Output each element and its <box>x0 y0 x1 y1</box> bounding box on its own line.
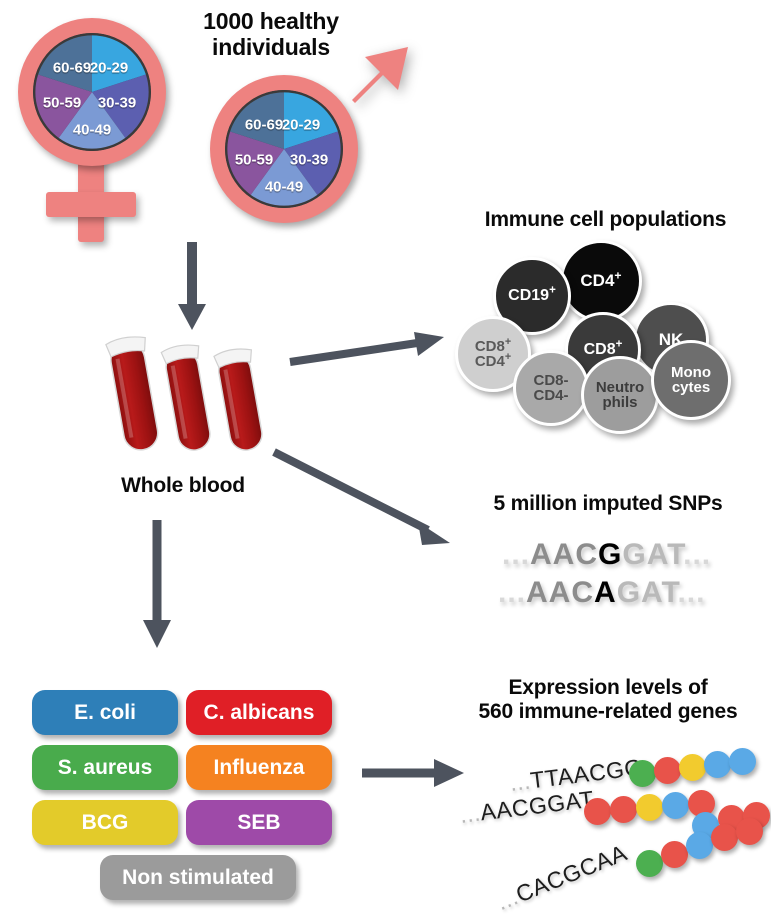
stimulus-box-e-coli[interactable]: E. coli <box>32 690 178 735</box>
snps-heading: 5 million imputed SNPs <box>458 492 758 516</box>
snp-allele-row-2: ...AACAGAT... <box>498 576 705 610</box>
blood-tube-3 <box>213 346 268 453</box>
strand-3-bead-4 <box>711 824 738 851</box>
whole-blood-label: Whole blood <box>78 474 288 498</box>
expression-strand-3-sequence: ...CACGCAA <box>493 839 631 916</box>
immune-cell-cd8-cd4-double-negative[interactable]: CD8- CD4- <box>513 350 589 426</box>
strand-2-bead-2 <box>610 796 637 823</box>
strand-3-bead-1 <box>636 850 663 877</box>
expression-strands: ...TTAACGG ...AACGGAT ...CACGCAA <box>440 740 771 920</box>
mono-line1: Mono <box>671 365 711 380</box>
expression-heading-line2: 560 immune-related genes <box>448 700 768 724</box>
female-symbol-cross <box>46 192 136 217</box>
snp-row1-prefix: ... <box>502 538 530 571</box>
snp-row1-highlight: G <box>598 538 622 571</box>
arrow-down-cohort-to-blood <box>172 242 212 332</box>
male-gender-symbol: 20-29 30-39 40-49 50-59 60-69 <box>200 48 415 248</box>
strand-1-bead-3 <box>679 754 706 781</box>
figure-canvas: 1000 healthy individuals 20-29 30-39 <box>0 0 771 922</box>
strand-2-bead-1 <box>584 798 611 825</box>
male-label-20-29: 20-29 <box>282 117 320 134</box>
arrow-right-blood-to-immune-cells <box>288 330 448 370</box>
strand-2-seq: AACGGAT <box>479 786 596 826</box>
stimulus-box-non-stimulated[interactable]: Non stimulated <box>100 855 296 900</box>
snp-row2-left: AAC <box>526 576 594 609</box>
strand-1-bead-5 <box>729 748 756 775</box>
arrow-diagonal-blood-to-snps <box>272 450 462 555</box>
immune-cell-cd4-label: CD4+ <box>580 272 621 289</box>
snp-allele-row-1: ...AACGGAT... <box>502 538 711 572</box>
stimulus-label-c-albicans: C. albicans <box>204 701 315 725</box>
stimulus-label-influenza: Influenza <box>213 756 304 780</box>
dp-line2: CD4+ <box>475 354 511 369</box>
strand-1-bead-4 <box>704 751 731 778</box>
snp-row2-prefix: ... <box>498 576 526 609</box>
blood-tubes-svg <box>95 335 275 465</box>
immune-cell-cd19-label: CD19+ <box>508 288 556 304</box>
snp-row2-highlight: A <box>594 576 617 609</box>
female-gender-symbol: 20-29 30-39 40-49 50-59 60-69 <box>8 14 198 244</box>
expression-heading-line1: Expression levels of <box>448 676 768 700</box>
stimulus-label-e-coli: E. coli <box>74 701 136 725</box>
stimulus-label-non-stimulated: Non stimulated <box>122 866 274 890</box>
male-label-40-49: 40-49 <box>265 179 303 196</box>
stimulus-box-seb[interactable]: SEB <box>186 800 332 845</box>
male-age-pie-chart: 20-29 30-39 40-49 50-59 60-69 <box>225 90 343 208</box>
snp-row2-right: GAT <box>617 576 678 609</box>
stimulus-box-c-albicans[interactable]: C. albicans <box>186 690 332 735</box>
whole-blood-tubes <box>95 335 275 465</box>
strand-1-bead-1 <box>629 760 656 787</box>
stimulus-label-seb: SEB <box>237 811 280 835</box>
immune-cell-monocytes[interactable]: Mono cytes <box>651 340 731 420</box>
strand-3-bead-5 <box>736 818 763 845</box>
male-label-30-39: 30-39 <box>290 152 328 169</box>
stimulus-box-bcg[interactable]: BCG <box>32 800 178 845</box>
female-label-60-69: 60-69 <box>53 60 91 77</box>
strand-3-seq: CACGCAA <box>512 839 630 907</box>
female-label-40-49: 40-49 <box>73 122 111 139</box>
male-label-60-69: 60-69 <box>245 117 283 134</box>
blood-tube-1 <box>105 335 164 453</box>
strand-3-bead-3 <box>686 832 713 859</box>
immune-cell-cluster: CD4+ CD19+ NK CD8+ CD8+ CD4+ CD8- CD4- N… <box>455 240 765 425</box>
dn-line2: CD4- <box>533 388 568 403</box>
female-label-20-29: 20-29 <box>90 60 128 77</box>
dn-line1: CD8- <box>533 373 568 388</box>
neutro-line1: Neutro <box>596 380 644 395</box>
immune-cell-cd4[interactable]: CD4+ <box>560 240 642 322</box>
mono-line2: cytes <box>672 380 710 395</box>
expression-heading: Expression levels of 560 immune-related … <box>448 676 768 724</box>
snp-row2-suffix: ... <box>677 576 705 609</box>
male-label-50-59: 50-59 <box>235 152 273 169</box>
immune-cell-neutrophils[interactable]: Neutro phils <box>581 356 659 434</box>
strand-1-bead-2 <box>654 757 681 784</box>
snp-row1-suffix: ... <box>683 538 711 571</box>
female-label-50-59: 50-59 <box>43 95 81 112</box>
arrow-down-blood-to-stimuli <box>137 520 177 650</box>
snp-row1-left: AAC <box>530 538 598 571</box>
stimulus-label-s-aureus: S. aureus <box>58 756 153 780</box>
strand-2-bead-3 <box>636 794 663 821</box>
stimulus-box-s-aureus[interactable]: S. aureus <box>32 745 178 790</box>
female-age-pie-chart: 20-29 30-39 40-49 50-59 60-69 <box>33 33 151 151</box>
female-label-30-39: 30-39 <box>98 95 136 112</box>
strand-2-bead-4 <box>662 792 689 819</box>
stimulus-label-bcg: BCG <box>82 811 129 835</box>
blood-tube-2 <box>161 342 217 452</box>
neutro-line2: phils <box>602 395 637 410</box>
snp-row1-right: GAT <box>622 538 683 571</box>
immune-cells-heading: Immune cell populations <box>448 208 763 232</box>
strand-3-bead-2 <box>661 841 688 868</box>
stimulus-box-influenza[interactable]: Influenza <box>186 745 332 790</box>
